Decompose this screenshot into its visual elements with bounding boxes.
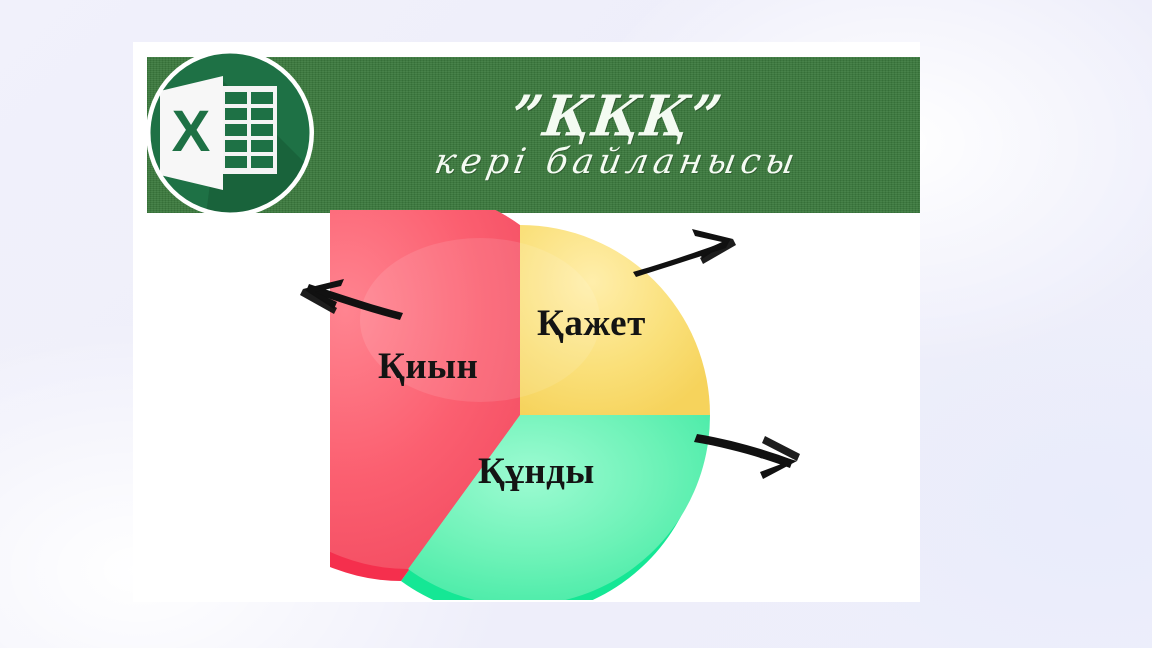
pie-chart: Қажет Құнды Қиын [330, 210, 730, 600]
svg-text:X: X [172, 99, 211, 164]
presentation-slide: ”ҚҚҚ” кері байланысы [0, 0, 1152, 648]
page-title: ”ҚҚҚ” [508, 88, 726, 144]
excel-logo: X [145, 48, 315, 218]
pie-chart-svg [330, 210, 730, 600]
excel-logo-icon: X [145, 48, 315, 218]
page-subtitle: кері байланысы [432, 145, 802, 180]
pie-label-qiyn: Қиын [378, 345, 478, 388]
pie-label-qajet: Қажет [537, 302, 646, 345]
title-block: ”ҚҚҚ” кері байланысы [317, 57, 917, 213]
pie-label-qundy: Құнды [478, 450, 595, 493]
